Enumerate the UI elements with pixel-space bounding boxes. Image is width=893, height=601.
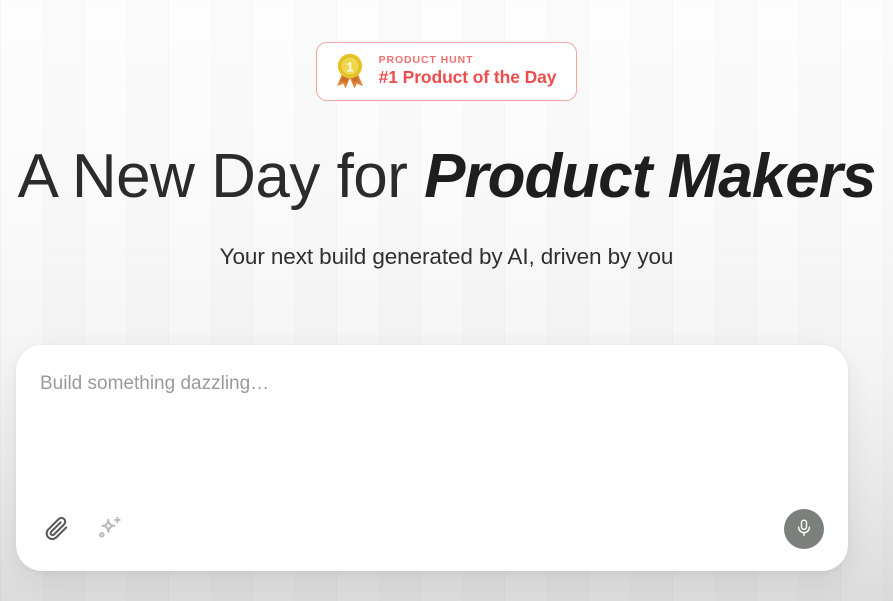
paperclip-icon: [44, 515, 70, 544]
svg-text:1: 1: [346, 59, 353, 74]
prompt-input[interactable]: [40, 371, 824, 481]
page-title: A New Day for Product Makers: [0, 142, 893, 211]
product-hunt-badge[interactable]: 1 PRODUCT HUNT #1 Product of the Day: [316, 42, 578, 101]
badge-container: 1 PRODUCT HUNT #1 Product of the Day: [0, 42, 893, 101]
landing-page: 1 PRODUCT HUNT #1 Product of the Day A N…: [0, 0, 893, 601]
medal-number-one-icon: 1: [333, 53, 367, 89]
sparkle-plus-icon: [96, 514, 123, 544]
page-subtitle: Your next build generated by AI, driven …: [0, 244, 893, 270]
badge-text: PRODUCT HUNT #1 Product of the Day: [379, 55, 557, 88]
attach-file-button[interactable]: [40, 512, 74, 546]
voice-input-button[interactable]: [784, 509, 824, 549]
microphone-icon: [794, 518, 814, 541]
headline-lead: A New Day for: [18, 142, 424, 211]
badge-title: #1 Product of the Day: [379, 67, 557, 87]
prompt-toolbar: [40, 509, 824, 549]
enhance-prompt-button[interactable]: [92, 512, 126, 546]
badge-kicker: PRODUCT HUNT: [379, 55, 557, 66]
headline-accent: Product Makers: [424, 142, 875, 211]
prompt-card: [16, 345, 848, 571]
prompt-toolbar-left: [40, 512, 126, 546]
